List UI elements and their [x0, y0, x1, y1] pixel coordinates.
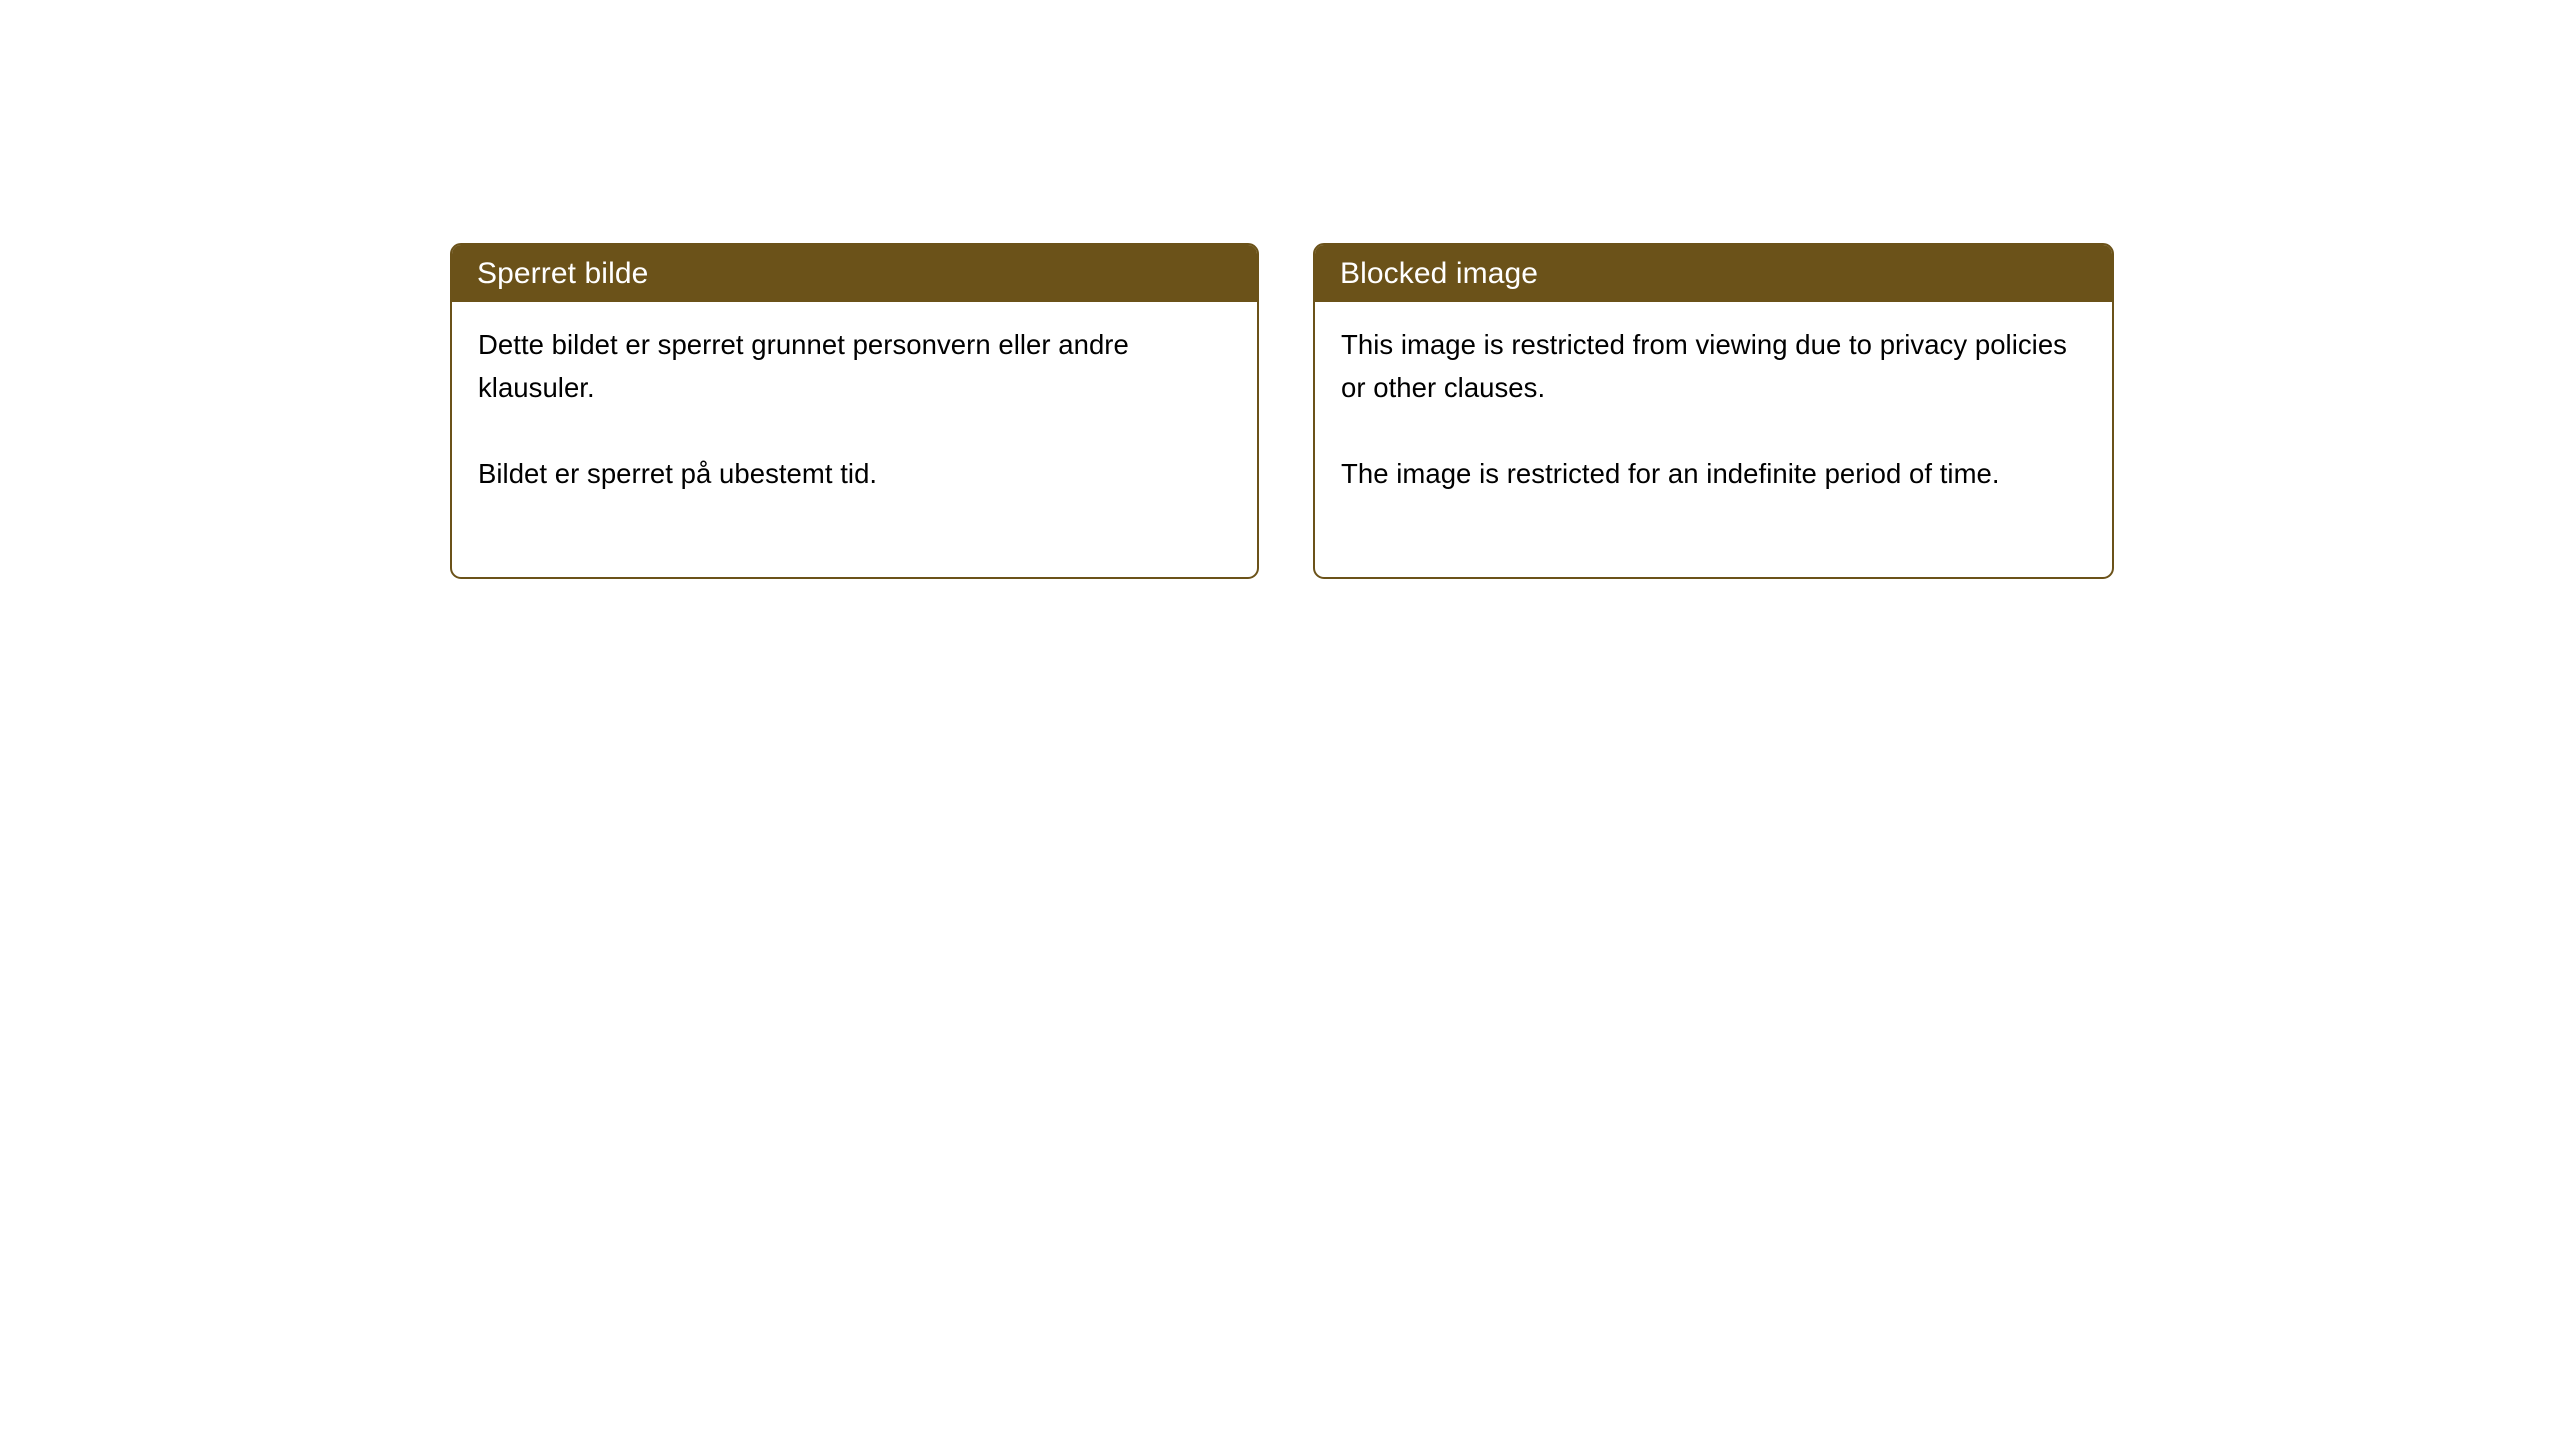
card-title-norwegian: Sperret bilde	[477, 259, 648, 289]
card-body-norwegian: Dette bildet er sperret grunnet personve…	[452, 302, 1257, 495]
card-paragraph-primary-english: This image is restricted from viewing du…	[1341, 323, 2086, 409]
card-body-english: This image is restricted from viewing du…	[1315, 302, 2112, 495]
card-paragraph-primary-norwegian: Dette bildet er sperret grunnet personve…	[478, 323, 1231, 409]
blocked-image-notice-card-english: Blocked image This image is restricted f…	[1313, 243, 2114, 579]
card-header-norwegian: Sperret bilde	[452, 245, 1257, 302]
card-header-english: Blocked image	[1315, 245, 2112, 302]
blocked-image-notice-card-norwegian: Sperret bilde Dette bildet er sperret gr…	[450, 243, 1259, 579]
card-title-english: Blocked image	[1340, 259, 1538, 289]
card-paragraph-secondary-english: The image is restricted for an indefinit…	[1341, 452, 2086, 495]
card-paragraph-secondary-norwegian: Bildet er sperret på ubestemt tid.	[478, 452, 1231, 495]
paragraph-spacer-norwegian	[478, 409, 1231, 452]
paragraph-spacer-english	[1341, 409, 2086, 452]
page-canvas: Sperret bilde Dette bildet er sperret gr…	[0, 0, 2560, 1440]
